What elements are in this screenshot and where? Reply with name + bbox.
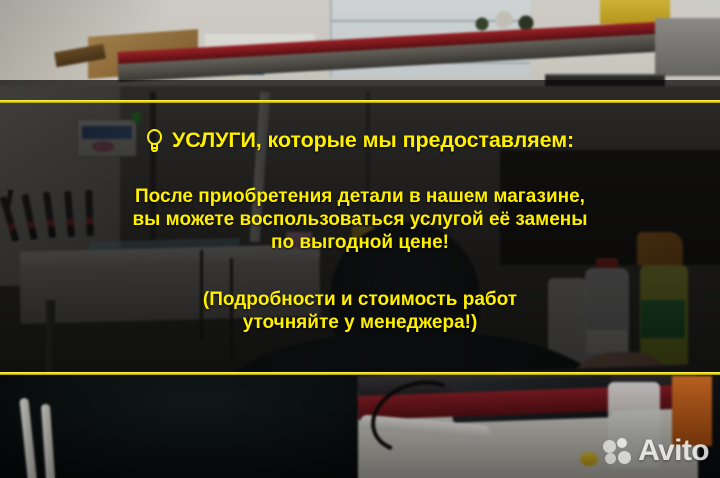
avito-dot	[617, 438, 627, 448]
headline-text: УСЛУГИ, которые мы предоставляем:	[172, 128, 574, 153]
avito-dot	[605, 453, 616, 464]
divider-rule-top	[0, 100, 720, 103]
lightbulb-icon	[146, 129, 163, 152]
promo-text-stack: УСЛУГИ, которые мы предоставляем: После …	[0, 104, 720, 372]
avito-wordmark: Avito	[638, 436, 709, 466]
headline: УСЛУГИ, которые мы предоставляем:	[146, 128, 574, 153]
lightbulb-filament	[152, 147, 156, 149]
promo-paragraph-secondary: (Подробности и стоимость работ уточняйте…	[203, 288, 517, 334]
avito-dot	[618, 451, 631, 464]
promo-paragraph-primary: После приобретения детали в нашем магази…	[132, 185, 587, 254]
avito-dot	[603, 440, 616, 453]
avito-watermark: Avito	[603, 436, 709, 466]
lightbulb-glass	[147, 129, 162, 145]
advertisement-banner: УСЛУГИ, которые мы предоставляем: После …	[0, 0, 720, 478]
avito-dots-logo-icon	[603, 438, 633, 465]
divider-rule-bottom	[0, 372, 720, 375]
